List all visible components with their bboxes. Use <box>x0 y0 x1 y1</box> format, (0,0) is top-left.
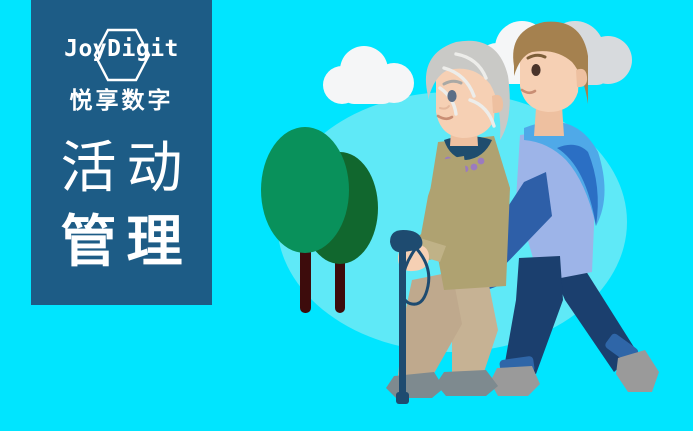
helper-front-shoe <box>490 366 540 396</box>
page-title-line-2: 管理 <box>31 212 212 272</box>
elder-ear <box>492 95 503 113</box>
brand-wordmark: JoyDigit <box>31 36 212 62</box>
helper-eye <box>531 64 540 76</box>
page-title-line-1: 活动 <box>31 138 212 198</box>
helper-ear <box>576 69 587 87</box>
elder-eye <box>447 90 456 102</box>
poster-canvas: JoyDigit 悦享数字 活动 管理 <box>0 0 693 431</box>
title-panel: JoyDigit 悦享数字 活动 管理 <box>31 0 212 305</box>
brand-subtitle: 悦享数字 <box>31 81 212 115</box>
cane-tip <box>396 392 409 404</box>
elder-back-shoe <box>436 370 498 396</box>
brand-logo: JoyDigit 悦享数字 <box>31 24 212 129</box>
